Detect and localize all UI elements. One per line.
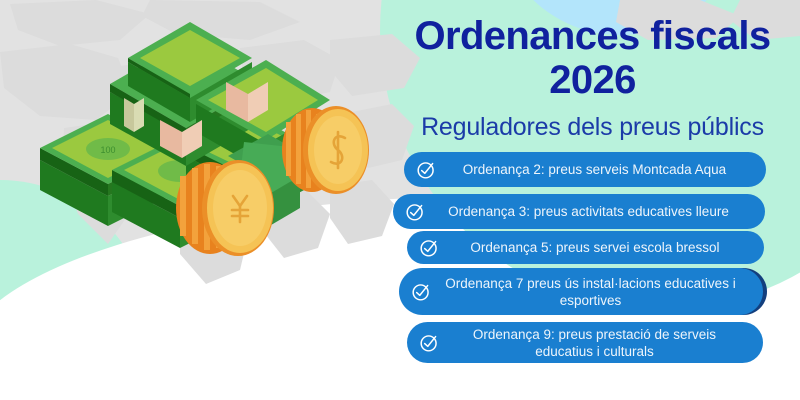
check-circle-icon (416, 159, 437, 180)
poster-canvas: 100 (0, 0, 800, 400)
list-item-label: Ordenança 7 preus ús instal·lacions educ… (436, 275, 749, 309)
check-circle-icon (411, 281, 432, 302)
list-item-label: Ordenança 2: preus serveis Montcada Aqua (441, 161, 752, 178)
svg-text:100: 100 (100, 145, 115, 155)
check-circle-icon (405, 201, 426, 222)
list-item-label: Ordenança 3: preus activitats educatives… (430, 203, 751, 220)
money-illustration: 100 (0, 0, 420, 330)
list-item-label: Ordenança 9: preus prestació de serveis … (444, 326, 749, 360)
list-item[interactable]: Ordenança 7 preus ús instal·lacions educ… (399, 268, 763, 315)
list-item[interactable]: Ordenança 9: preus prestació de serveis … (407, 322, 763, 363)
list-item[interactable]: Ordenança 5: preus servei escola bressol (407, 231, 764, 264)
list-item[interactable]: Ordenança 3: preus activitats educatives… (393, 194, 765, 229)
list-item-label: Ordenança 5: preus servei escola bressol (444, 239, 750, 256)
check-circle-icon (419, 332, 440, 353)
check-circle-icon (419, 237, 440, 258)
list-item[interactable]: Ordenança 2: preus serveis Montcada Aqua (404, 152, 766, 187)
content-column: Ordenances fiscals 2026 Reguladores dels… (385, 0, 800, 400)
gold-coin-dollar-icon (282, 106, 369, 194)
ordinance-list: Ordenança 2: preus serveis Montcada Aqua… (385, 0, 800, 400)
gold-coin-yen-icon (176, 160, 274, 256)
